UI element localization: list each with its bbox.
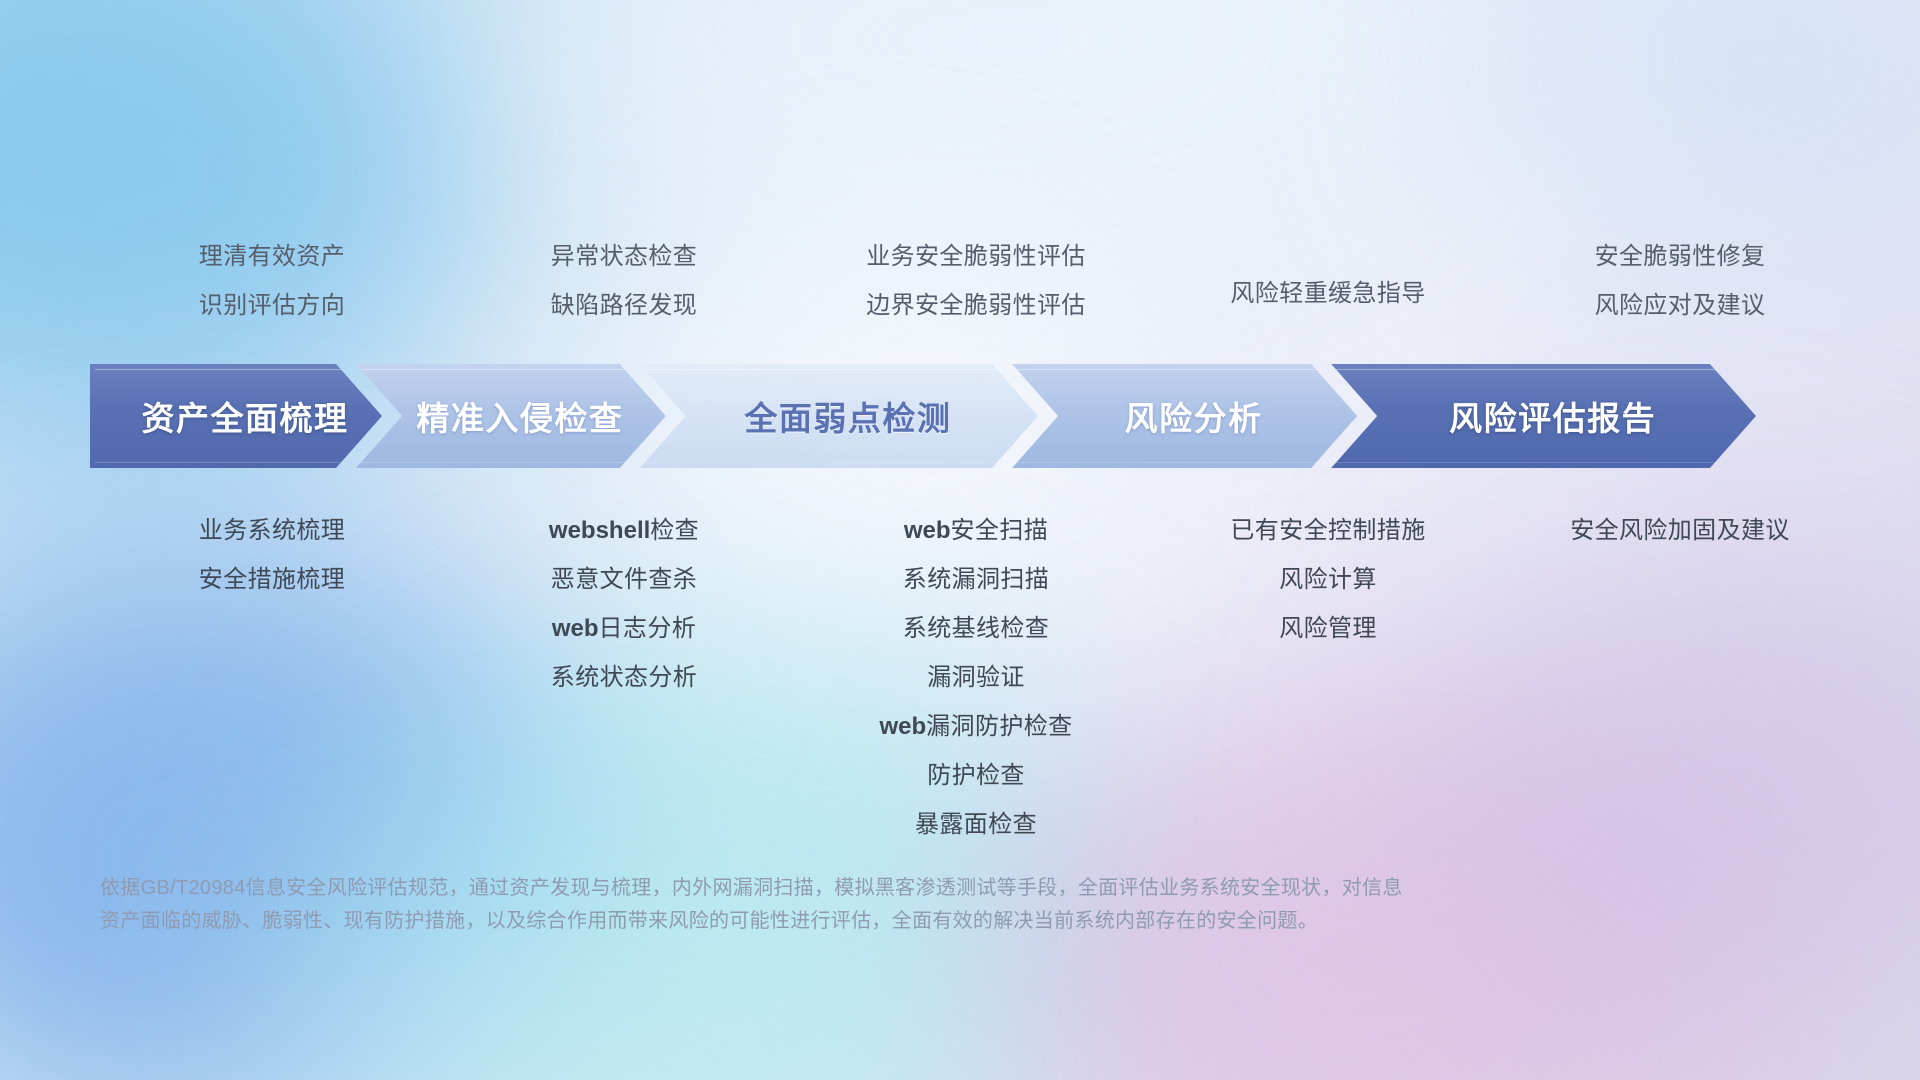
- bottom-item: webshell检查: [549, 506, 699, 555]
- footer-line-1: 依据GB/T20984信息安全风险评估规范，通过资产发现与梳理，内外网漏洞扫描，…: [100, 872, 1660, 905]
- bottom-item: 防护检查: [927, 751, 1025, 800]
- bottom-column-2: webshell检查恶意文件查杀web日志分析系统状态分析: [448, 506, 800, 849]
- bottom-item: 系统状态分析: [551, 653, 697, 702]
- bottom-item: 安全措施梳理: [199, 555, 345, 604]
- stage-chevron-label: 风险分析: [1107, 392, 1263, 440]
- bottom-item: 漏洞验证: [927, 653, 1025, 702]
- stage-chevron-1[interactable]: 资产全面梳理: [90, 364, 382, 468]
- top-item: 异常状态检查: [551, 232, 697, 281]
- stage-chevron-banner: 资产全面梳理精准入侵检查全面弱点检测风险分析风险评估报告: [90, 364, 1860, 468]
- bottom-item: 业务系统梳理: [199, 506, 345, 555]
- bottom-item: 暴露面检查: [915, 800, 1037, 849]
- top-item: 风险应对及建议: [1595, 281, 1766, 330]
- stage-chevron-4[interactable]: 风险分析: [1012, 364, 1357, 468]
- top-item: 边界安全脆弱性评估: [866, 281, 1086, 330]
- stage-chevron-2[interactable]: 精准入侵检查: [356, 364, 666, 468]
- bottom-item: 系统漏洞扫描: [903, 555, 1049, 604]
- top-item: 缺陷路径发现: [551, 281, 697, 330]
- top-column-3: 业务安全脆弱性评估边界安全脆弱性评估: [800, 232, 1152, 330]
- bottom-column-3: web安全扫描系统漏洞扫描系统基线检查漏洞验证web漏洞防护检查防护检查暴露面检…: [800, 506, 1152, 849]
- top-item: 理清有效资产: [199, 232, 345, 281]
- bottom-item: web安全扫描: [904, 506, 1048, 555]
- bottom-column-1: 业务系统梳理安全措施梳理: [96, 506, 448, 849]
- bottom-item: 风险管理: [1279, 604, 1377, 653]
- top-item: 业务安全脆弱性评估: [866, 232, 1086, 281]
- latin-token: webshell: [549, 517, 650, 544]
- top-item: 风险轻重缓急指导: [1230, 269, 1425, 318]
- top-item: 识别评估方向: [199, 281, 345, 330]
- bottom-item: 已有安全控制措施: [1230, 506, 1425, 555]
- stage-chevron-label: 风险评估报告: [1431, 392, 1656, 440]
- latin-token: web: [552, 615, 599, 642]
- bottom-item: 安全风险加固及建议: [1570, 506, 1790, 555]
- latin-token: web: [879, 713, 926, 740]
- top-item: 安全脆弱性修复: [1595, 232, 1766, 281]
- top-column-2: 异常状态检查缺陷路径发现: [448, 232, 800, 330]
- top-column-4: 风险轻重缓急指导: [1152, 232, 1504, 330]
- bottom-column-4: 已有安全控制措施风险计算风险管理: [1152, 506, 1504, 849]
- bottom-item: 系统基线检查: [903, 604, 1049, 653]
- bottom-column-5: 安全风险加固及建议: [1504, 506, 1856, 849]
- top-column-5: 安全脆弱性修复风险应对及建议: [1504, 232, 1856, 330]
- latin-token: web: [904, 517, 951, 544]
- bottom-item: 风险计算: [1279, 555, 1377, 604]
- process-diagram: 理清有效资产识别评估方向异常状态检查缺陷路径发现业务安全脆弱性评估边界安全脆弱性…: [0, 0, 1920, 1080]
- stage-chevron-5[interactable]: 风险评估报告: [1331, 364, 1756, 468]
- stage-chevron-label: 精准入侵检查: [398, 392, 623, 440]
- bottom-descriptor-row: 业务系统梳理安全措施梳理webshell检查恶意文件查杀web日志分析系统状态分…: [96, 506, 1856, 849]
- stage-chevron-3[interactable]: 全面弱点检测: [640, 364, 1038, 468]
- bottom-item: 恶意文件查杀: [551, 555, 697, 604]
- footer-description: 依据GB/T20984信息安全风险评估规范，通过资产发现与梳理，内外网漏洞扫描，…: [100, 872, 1660, 938]
- footer-line-2: 资产面临的威胁、脆弱性、现有防护措施，以及综合作用而带来风险的可能性进行评估，全…: [100, 905, 1660, 938]
- stage-chevron-label: 资产全面梳理: [124, 392, 349, 440]
- bottom-item: web漏洞防护检查: [879, 702, 1072, 751]
- stage-chevron-label: 全面弱点检测: [726, 392, 951, 440]
- top-descriptor-row: 理清有效资产识别评估方向异常状态检查缺陷路径发现业务安全脆弱性评估边界安全脆弱性…: [96, 232, 1856, 330]
- bottom-item: web日志分析: [552, 604, 696, 653]
- top-column-1: 理清有效资产识别评估方向: [96, 232, 448, 330]
